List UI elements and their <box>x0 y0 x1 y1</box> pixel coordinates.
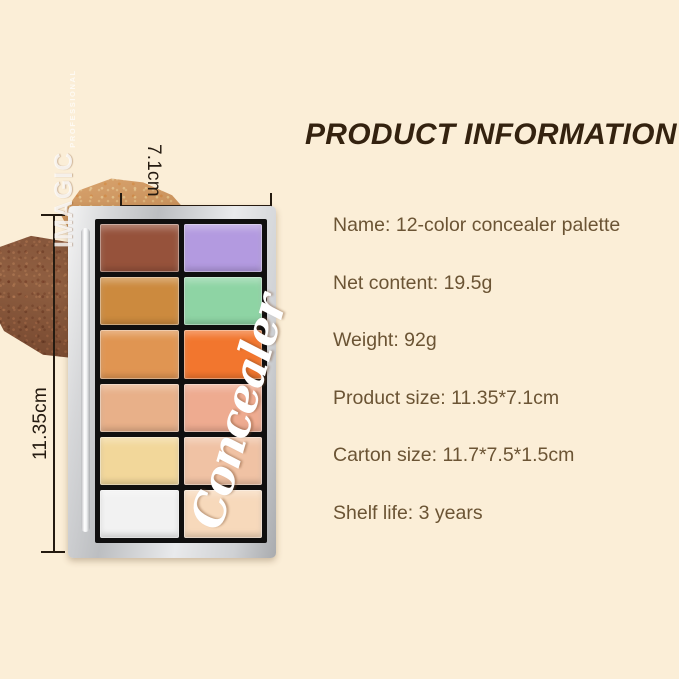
page-title: PRODUCT INFORMATION <box>305 118 679 152</box>
product-information-page: 7.1cm 11.35cm <box>0 0 679 679</box>
pan-row3-left <box>100 330 179 378</box>
pan-row2-right <box>184 277 263 325</box>
pan-row1-left <box>100 224 179 272</box>
pan-grid <box>100 224 262 538</box>
concealer-palette <box>68 206 276 558</box>
spec-row-carton-size: Carton size: 11.7*7.5*1.5cm <box>333 446 679 466</box>
width-dimension-tick-left <box>120 193 122 207</box>
height-dimension-line <box>53 215 55 553</box>
pan-row3-right <box>184 330 263 378</box>
palette-tray <box>95 219 267 543</box>
spec-row-product-size: Product size: 11.35*7.1cm <box>333 389 679 409</box>
pan-row5-left <box>100 437 179 485</box>
width-dimension-label: 7.1cm <box>142 144 164 197</box>
spec-row-weight: Weight: 92g <box>333 331 679 351</box>
pan-row4-left <box>100 384 179 432</box>
specification-list: Name: 12-color concealer palette Net con… <box>305 216 679 523</box>
pan-row5-right <box>184 437 263 485</box>
height-dimension-tick-bottom <box>41 551 65 553</box>
spec-row-shelf-life: Shelf life: 3 years <box>333 504 679 524</box>
pan-row1-right <box>184 224 263 272</box>
pan-row4-right <box>184 384 263 432</box>
brand-subtitle: PROFESSIONAL <box>68 69 79 147</box>
spec-row-net-content: Net content: 19.5g <box>333 274 679 294</box>
pan-row6-left <box>100 490 179 538</box>
product-photo-area: 7.1cm 11.35cm <box>0 0 300 679</box>
spec-row-name: Name: 12-color concealer palette <box>333 216 679 236</box>
product-information-panel: PRODUCT INFORMATION Name: 12-color conce… <box>305 118 679 561</box>
palette-hinge <box>81 228 90 532</box>
height-dimension-label: 11.35cm <box>30 387 52 460</box>
pan-row2-left <box>100 277 179 325</box>
pan-row6-right <box>184 490 263 538</box>
height-dimension-tick-top <box>41 214 65 216</box>
